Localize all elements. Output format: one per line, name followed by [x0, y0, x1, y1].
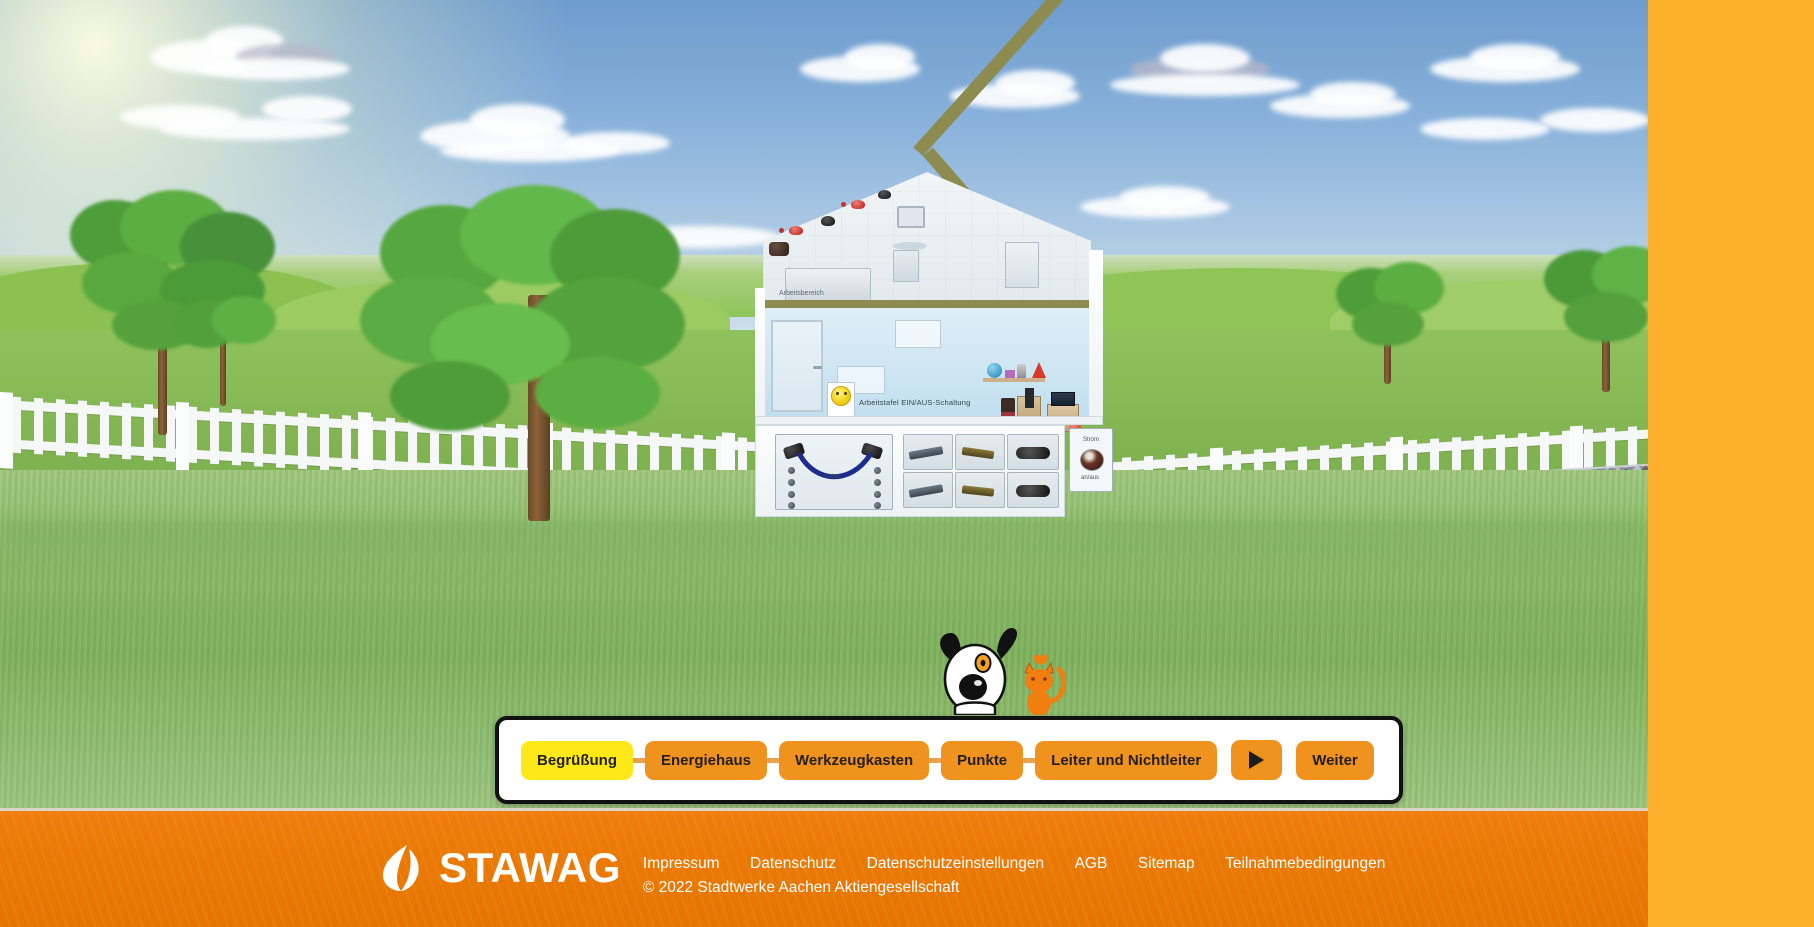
- room-label: Arbeitstafel EIN/AUS-Schaltung: [859, 398, 970, 407]
- appliance-sink[interactable]: [893, 242, 927, 250]
- tree-right-far: [1330, 262, 1450, 382]
- cloud: [560, 132, 670, 154]
- outer-wall-right: [1089, 250, 1103, 420]
- footer-link-datenschutz[interactable]: Datenschutz: [750, 855, 836, 872]
- socket-red[interactable]: [841, 202, 846, 207]
- tool-slot[interactable]: [955, 472, 1005, 508]
- tree-main: [360, 185, 700, 515]
- play-icon: [1249, 751, 1264, 769]
- room-door[interactable]: [771, 320, 823, 412]
- power-knob[interactable]: [1080, 449, 1104, 471]
- laptop-icon: [1051, 392, 1075, 406]
- appliance-cabinet[interactable]: [893, 250, 919, 282]
- power-switch-label-bottom: an/aus: [1081, 475, 1099, 481]
- footer-link-row: Impressum Datenschutz Datenschutzeinstel…: [643, 855, 1412, 873]
- lamp-black[interactable]: [878, 190, 891, 199]
- bulb-eye: [844, 392, 847, 395]
- attic-label: Arbeitsbereich: [779, 290, 824, 297]
- cat-head: [1025, 669, 1053, 693]
- play-button[interactable]: [1231, 740, 1282, 780]
- bush-left-small: [170, 296, 280, 406]
- tool-slot[interactable]: [955, 434, 1005, 470]
- lesson-navigation[interactable]: Begrüßung Energiehaus Werkzeugkasten Pun…: [495, 716, 1403, 804]
- box-purple: [1005, 370, 1015, 378]
- stawag-flame-icon: [375, 841, 429, 895]
- tool-slot[interactable]: [1007, 472, 1059, 508]
- lamp-black[interactable]: [821, 216, 835, 226]
- nav-step-begruessung[interactable]: Begrüßung: [521, 741, 633, 780]
- light-bulb-icon[interactable]: [831, 386, 851, 406]
- appliance-kettle[interactable]: [769, 242, 789, 256]
- footer-link-agb[interactable]: AGB: [1075, 855, 1108, 872]
- site-footer: STAWAG Impressum Datenschutz Datenschutz…: [0, 808, 1648, 927]
- nav-connector: [767, 758, 779, 763]
- cloud: [1540, 108, 1648, 132]
- footer-link-datenschutzeinstellungen[interactable]: Datenschutzeinstellungen: [867, 855, 1045, 872]
- tool-slot[interactable]: [903, 472, 953, 508]
- nav-step-leiter-und-nichtleiter[interactable]: Leiter und Nichtleiter: [1035, 741, 1217, 780]
- cloud: [470, 104, 565, 136]
- footer-links: Impressum Datenschutz Datenschutzeinstel…: [643, 841, 1412, 897]
- stawag-logo[interactable]: STAWAG: [375, 841, 621, 895]
- cloud: [1120, 186, 1210, 208]
- socket-red[interactable]: [779, 228, 784, 233]
- nav-step-werkzeugkasten[interactable]: Werkzeugkasten: [779, 741, 929, 780]
- footer-link-impressum[interactable]: Impressum: [643, 855, 720, 872]
- cable-board[interactable]: Kabel: [775, 434, 893, 510]
- lamp-cone: [1032, 362, 1046, 378]
- lamp-red[interactable]: [789, 226, 803, 235]
- speaker-icon: [1025, 388, 1034, 408]
- cloud: [1160, 44, 1250, 72]
- power-switch-panel[interactable]: Strom an/aus: [1069, 428, 1113, 492]
- stawag-wordmark: STAWAG: [439, 847, 621, 889]
- screw: [788, 491, 795, 498]
- outer-wall-left: [755, 288, 765, 420]
- cloud: [995, 70, 1075, 96]
- energiehaus-scene: Arbeitsbereich: [0, 0, 1648, 808]
- cable-label: Kabel: [824, 473, 841, 480]
- cloud: [1470, 44, 1560, 70]
- screw: [788, 479, 795, 486]
- footer-link-sitemap[interactable]: Sitemap: [1138, 855, 1195, 872]
- mascot-illustration[interactable]: [925, 615, 1075, 715]
- lawn-ridge: [0, 600, 1648, 670]
- cloud: [845, 44, 915, 70]
- next-button[interactable]: Weiter: [1296, 741, 1374, 780]
- game-content-area: Arbeitsbereich: [0, 0, 1648, 927]
- dog-body: [955, 703, 995, 716]
- heart-icon: [1034, 655, 1048, 665]
- nav-step-energiehaus[interactable]: Energiehaus: [645, 741, 767, 780]
- appliance-monitor[interactable]: [897, 206, 925, 228]
- right-orange-rail: [1648, 0, 1814, 927]
- cloud: [262, 96, 352, 122]
- cloud: [1310, 82, 1396, 106]
- footer-copyright: © 2022 Stadtwerke Aachen Aktiengesellsch…: [643, 879, 1412, 897]
- ground-slab: [755, 416, 1103, 425]
- cat-tail: [1051, 669, 1064, 701]
- screw: [874, 479, 881, 486]
- appliance-fridge[interactable]: [1005, 242, 1039, 288]
- mascots-group[interactable]: [925, 615, 1075, 715]
- nav-connector: [929, 758, 941, 763]
- bulb-eye: [836, 392, 839, 395]
- footer-link-teilnahmebedingungen[interactable]: Teilnahmebedingungen: [1225, 855, 1385, 872]
- nav-step-punkte[interactable]: Punkte: [941, 741, 1023, 780]
- cat-body: [1027, 690, 1051, 715]
- screw: [874, 467, 881, 474]
- dog-nose: [959, 674, 987, 700]
- tool-slot[interactable]: [1007, 434, 1059, 470]
- wall-board-top[interactable]: [895, 320, 941, 348]
- dog-ear-right: [997, 628, 1017, 659]
- power-switch-label-top: Strom: [1083, 437, 1099, 443]
- tool-slot[interactable]: [903, 434, 953, 470]
- cloud: [200, 58, 350, 80]
- screw: [788, 502, 795, 509]
- energy-house[interactable]: Arbeitsbereich: [755, 160, 1115, 585]
- trophy-icon: [1017, 364, 1026, 378]
- nav-connector: [1023, 758, 1035, 763]
- globe-icon: [987, 363, 1002, 378]
- screw: [874, 502, 881, 509]
- screw: [788, 467, 795, 474]
- tree-right-edge: [1540, 246, 1648, 396]
- lamp-red[interactable]: [851, 200, 865, 209]
- cloud: [1110, 74, 1300, 96]
- shelf: [983, 378, 1045, 382]
- screw: [874, 491, 881, 498]
- cloud: [1420, 118, 1550, 140]
- page-root: Arbeitsbereich: [0, 0, 1814, 927]
- nav-connector: [633, 758, 645, 763]
- floor-slab: [763, 300, 1091, 308]
